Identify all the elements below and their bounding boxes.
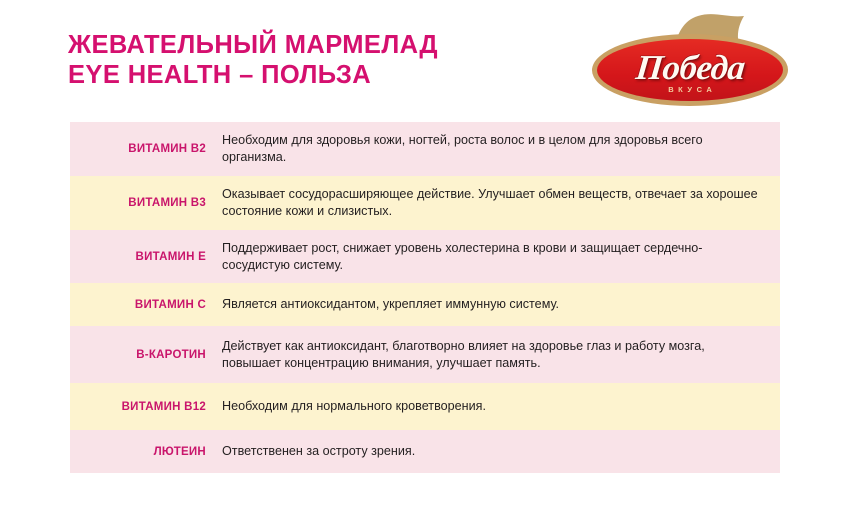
nutrient-label: ВИТАМИН Е [70, 251, 222, 263]
nutrient-description: Ответственен за остроту зрения. [222, 443, 780, 460]
nutrient-description: Оказывает сосудорасширяющее действие. Ул… [222, 186, 780, 220]
nutrient-label: ВИТАМИН B2 [70, 143, 222, 155]
page-title: ЖЕВАТЕЛЬНЫЙ МАРМЕЛАД EYE HEALTH – ПОЛЬЗА [68, 30, 438, 90]
nutrient-description: Действует как антиоксидант, благотворно … [222, 338, 780, 372]
nutrient-label: ВИТАМИН B3 [70, 197, 222, 209]
table-row: ЛЮТЕИН Ответственен за остроту зрения. [70, 430, 780, 473]
logo-tagline: ВКУСА [592, 85, 788, 94]
nutrient-description: Необходим для нормального кроветворения. [222, 398, 780, 415]
table-row: ВИТАМИН B12 Необходим для нормального кр… [70, 383, 780, 430]
poster-page: ЖЕВАТЕЛЬНЫЙ МАРМЕЛАД EYE HEALTH – ПОЛЬЗА… [0, 0, 850, 531]
nutrient-description: Поддерживает рост, снижает уровень холес… [222, 240, 780, 274]
nutrient-label: B-КАРОТИН [70, 349, 222, 361]
nutrient-description: Необходим для здоровья кожи, ногтей, рос… [222, 132, 780, 166]
table-row: ВИТАМИН B2 Необходим для здоровья кожи, … [70, 122, 780, 176]
benefits-table: ВИТАМИН B2 Необходим для здоровья кожи, … [70, 122, 780, 473]
logo-brand-text: Победа [634, 48, 747, 88]
header: ЖЕВАТЕЛЬНЫЙ МАРМЕЛАД EYE HEALTH – ПОЛЬЗА… [0, 0, 850, 118]
table-row: ВИТАМИН С Является антиоксидантом, укреп… [70, 283, 780, 326]
table-row: ВИТАМИН Е Поддерживает рост, снижает уро… [70, 230, 780, 283]
nutrient-label: ВИТАМИН С [70, 299, 222, 311]
nutrient-label: ВИТАМИН B12 [70, 401, 222, 413]
table-row: B-КАРОТИН Действует как антиоксидант, бл… [70, 326, 780, 383]
nutrient-description: Является антиоксидантом, укрепляет иммун… [222, 296, 780, 313]
title-line-1: ЖЕВАТЕЛЬНЫЙ МАРМЕЛАД [68, 30, 438, 60]
brand-logo: Победа ВКУСА [592, 12, 802, 108]
nutrient-label: ЛЮТЕИН [70, 446, 222, 458]
table-row: ВИТАМИН B3 Оказывает сосудорасширяющее д… [70, 176, 780, 230]
title-line-2: EYE HEALTH – ПОЛЬЗА [68, 60, 438, 90]
